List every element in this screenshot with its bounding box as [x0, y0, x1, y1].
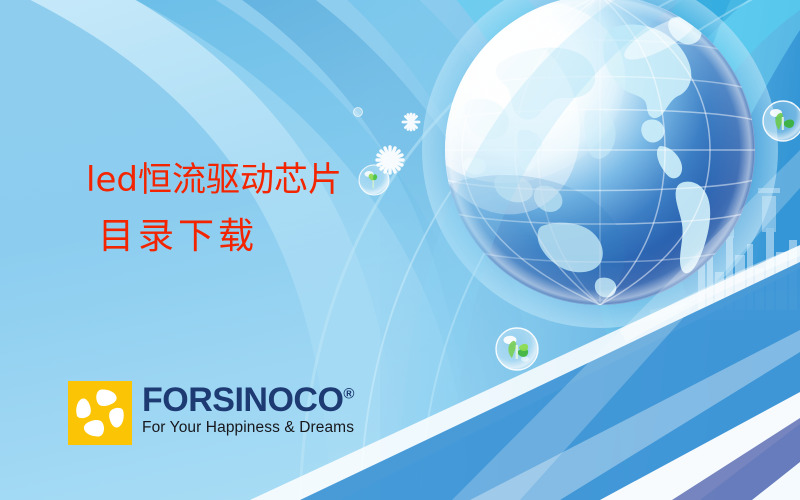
brand-logo-lockup: FORSINOCO® For Your Happiness & Dreams [68, 381, 354, 445]
logo-mark [68, 381, 132, 445]
bubble-with-sprout-icon [763, 101, 800, 141]
headline-line-2: 目录下载 [98, 219, 342, 255]
logo-wordmark-block: FORSINOCO® For Your Happiness & Dreams [142, 381, 354, 437]
headline-line-1: led恒流驱动芯片 [86, 163, 342, 197]
bubble-with-sprout-icon [496, 328, 538, 370]
poster-canvas: led恒流驱动芯片 目录下载 FORSINOCO® [0, 0, 800, 500]
headline: led恒流驱动芯片 目录下载 [86, 163, 342, 255]
four-petal-pinwheel-icon [68, 381, 132, 445]
brand-name-text: FORSINOCO [142, 381, 343, 419]
brand-name: FORSINOCO® [142, 384, 354, 417]
brand-tagline: For Your Happiness & Dreams [142, 419, 354, 437]
registered-trademark-icon: ® [343, 386, 354, 403]
bubble-with-sprout-icon [359, 165, 389, 195]
starburst-icon [403, 114, 419, 130]
